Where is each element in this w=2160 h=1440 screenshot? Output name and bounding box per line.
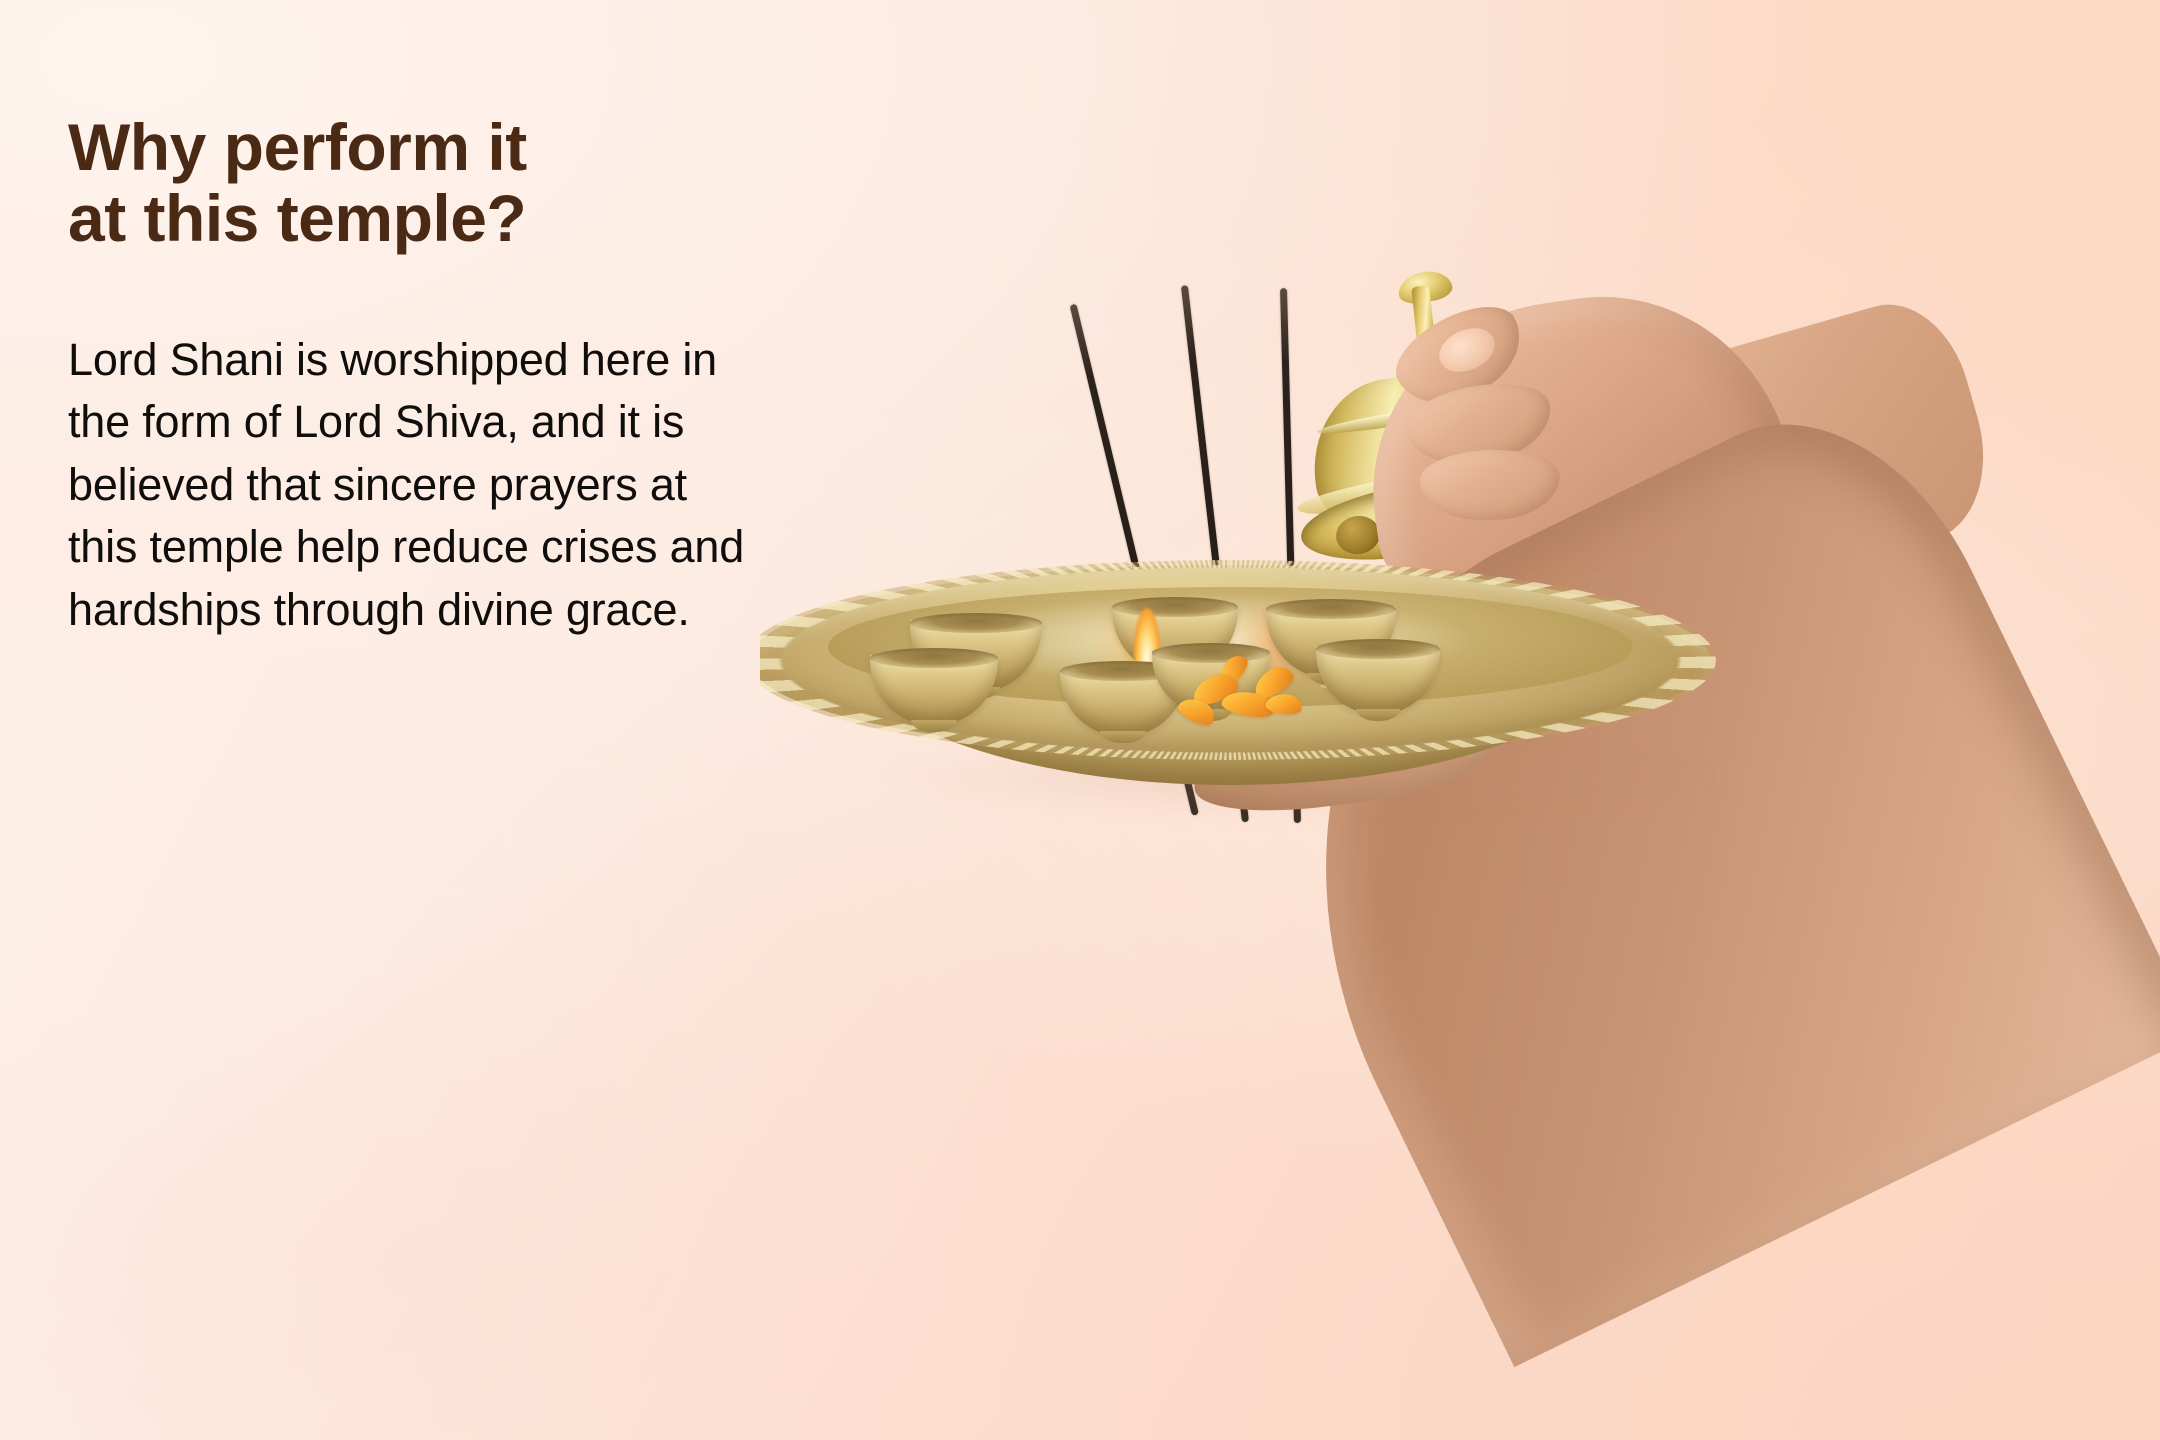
slide-canvas: Why perform it at this temple? Lord Shan…	[0, 0, 2160, 1440]
page-title: Why perform it at this temple?	[68, 112, 828, 255]
text-column: Why perform it at this temple? Lord Shan…	[68, 112, 828, 641]
body-paragraph: Lord Shani is worshipped here in the for…	[68, 329, 768, 642]
puja-photograph	[760, 0, 2160, 1440]
